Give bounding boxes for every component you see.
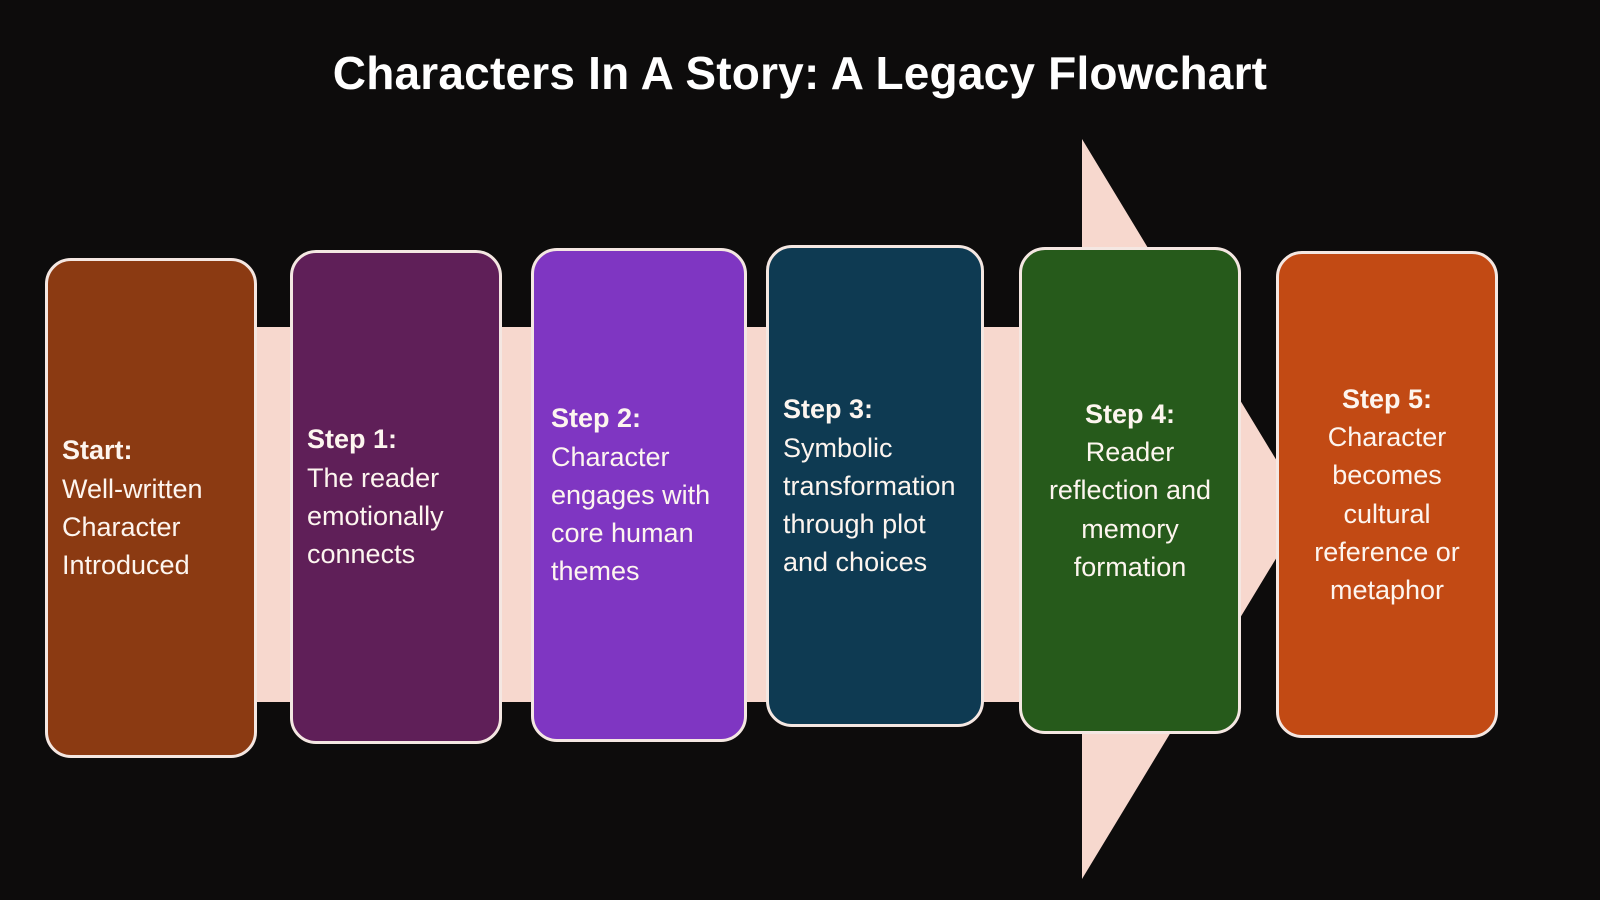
flow-step-body: Character becomes cultural reference or … [1314, 422, 1460, 605]
flow-step-text: Step 5: Character becomes cultural refer… [1303, 380, 1471, 610]
flow-step-card-step-2[interactable]: Step 2: Character engages with core huma… [531, 248, 747, 742]
flow-step-body: The reader emotionally connects [307, 463, 444, 570]
flow-step-text: Step 3: Symbolic transformation through … [783, 390, 967, 582]
flow-step-body: Character engages with core human themes [551, 442, 710, 587]
flow-step-lead: Step 2: [551, 403, 641, 433]
flow-step-text: Step 4: Reader reflection and memory for… [1047, 395, 1213, 587]
flow-step-card-step-3[interactable]: Step 3: Symbolic transformation through … [766, 245, 984, 727]
flow-step-card-step-1[interactable]: Step 1: The reader emotionally connects [290, 250, 502, 744]
flow-step-lead: Step 1: [307, 424, 397, 454]
flowchart-canvas: Characters In A Story: A Legacy Flowchar… [0, 0, 1600, 900]
flow-step-text: Step 2: Character engages with core huma… [551, 399, 727, 591]
flow-step-card-step-4[interactable]: Step 4: Reader reflection and memory for… [1019, 247, 1241, 734]
flow-step-lead: Step 3: [783, 394, 873, 424]
flow-step-card-start[interactable]: Start: Well-written Character Introduced [45, 258, 257, 758]
flow-step-text: Step 1: The reader emotionally connects [307, 420, 485, 573]
flow-step-body: Symbolic transformation through plot and… [783, 433, 956, 578]
flow-step-card-step-5[interactable]: Step 5: Character becomes cultural refer… [1276, 251, 1498, 738]
page-title: Characters In A Story: A Legacy Flowchar… [0, 48, 1600, 99]
flow-step-body: Well-written Character Introduced [62, 474, 203, 581]
flow-step-body: Reader reflection and memory formation [1049, 437, 1211, 582]
flow-step-text: Start: Well-written Character Introduced [62, 431, 240, 584]
flow-step-lead: Step 4: [1085, 399, 1175, 429]
flow-step-lead: Step 5: [1342, 384, 1432, 414]
flow-step-lead: Start: [62, 435, 133, 465]
